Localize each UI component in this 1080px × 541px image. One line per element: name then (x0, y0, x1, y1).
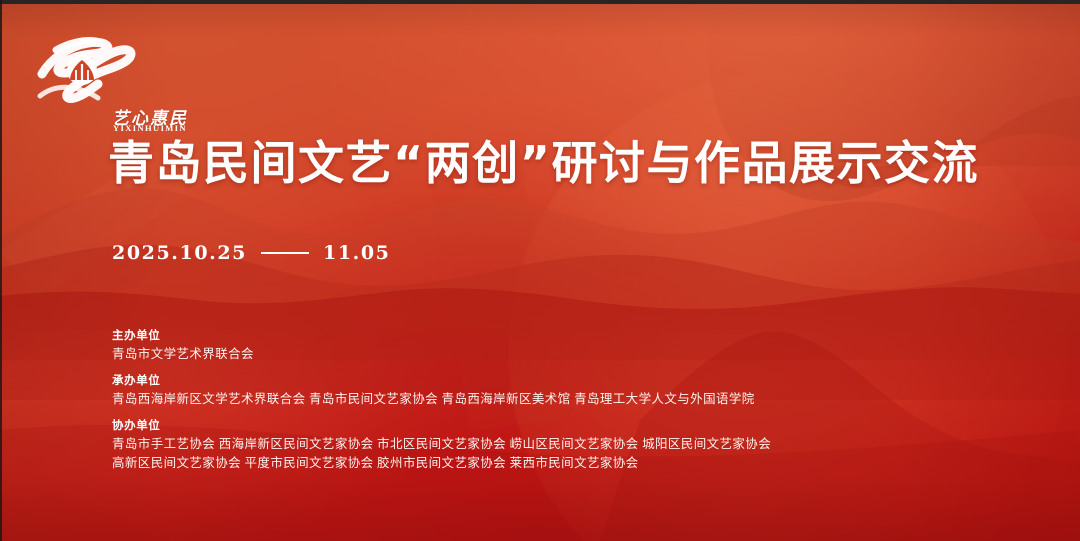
organizer-line: 高新区民间文艺家协会 平度市民间文艺家协会 胶州市民间文艺家协会 莱西市民间文艺… (112, 454, 942, 473)
left-edge-bar (0, 0, 2, 541)
date-end: 11.05 (323, 242, 391, 264)
organizer-label: 主办单位 (112, 328, 942, 345)
organizer-block-coorganizer: 承办单位 青岛西海岸新区文学艺术界联合会 青岛市民间文艺家协会 青岛西海岸新区美… (112, 373, 942, 409)
poster-title: 青岛民间文艺“两创”研讨与作品展示交流 (108, 127, 979, 193)
organizer-line: 青岛西海岸新区文学艺术界联合会 青岛市民间文艺家协会 青岛西海岸新区美术馆 青岛… (112, 390, 942, 409)
organizers-section: 主办单位 青岛市文学艺术界联合会 承办单位 青岛西海岸新区文学艺术界联合会 青岛… (112, 328, 942, 474)
top-edge-bar (0, 0, 1080, 4)
organizer-block-supporter: 协办单位 青岛市手工艺协会 西海岸新区民间文艺家协会 市北区民间文艺家协会 崂山… (112, 418, 942, 473)
organizer-line: 青岛市手工艺协会 西海岸新区民间文艺家协会 市北区民间文艺家协会 崂山区民间文艺… (112, 435, 942, 454)
organizer-label: 承办单位 (112, 373, 942, 390)
organizer-block-host: 主办单位 青岛市文学艺术界联合会 (112, 328, 942, 364)
date-separator-dash (261, 252, 309, 254)
date-range: 2025.10.25 11.05 (112, 242, 391, 264)
date-start: 2025.10.25 (112, 242, 247, 264)
organizer-line: 青岛市文学艺术界联合会 (112, 345, 942, 364)
poster-canvas: 艺心惠民 YIXINHUIMIN 青岛民间文艺“两创”研讨与作品展示交流 202… (0, 0, 1080, 541)
logo-yixinhuimin: 艺心惠民 YIXINHUIMIN (34, 30, 174, 112)
organizer-label: 协办单位 (112, 418, 942, 435)
logo-swoosh-icon (34, 30, 174, 112)
